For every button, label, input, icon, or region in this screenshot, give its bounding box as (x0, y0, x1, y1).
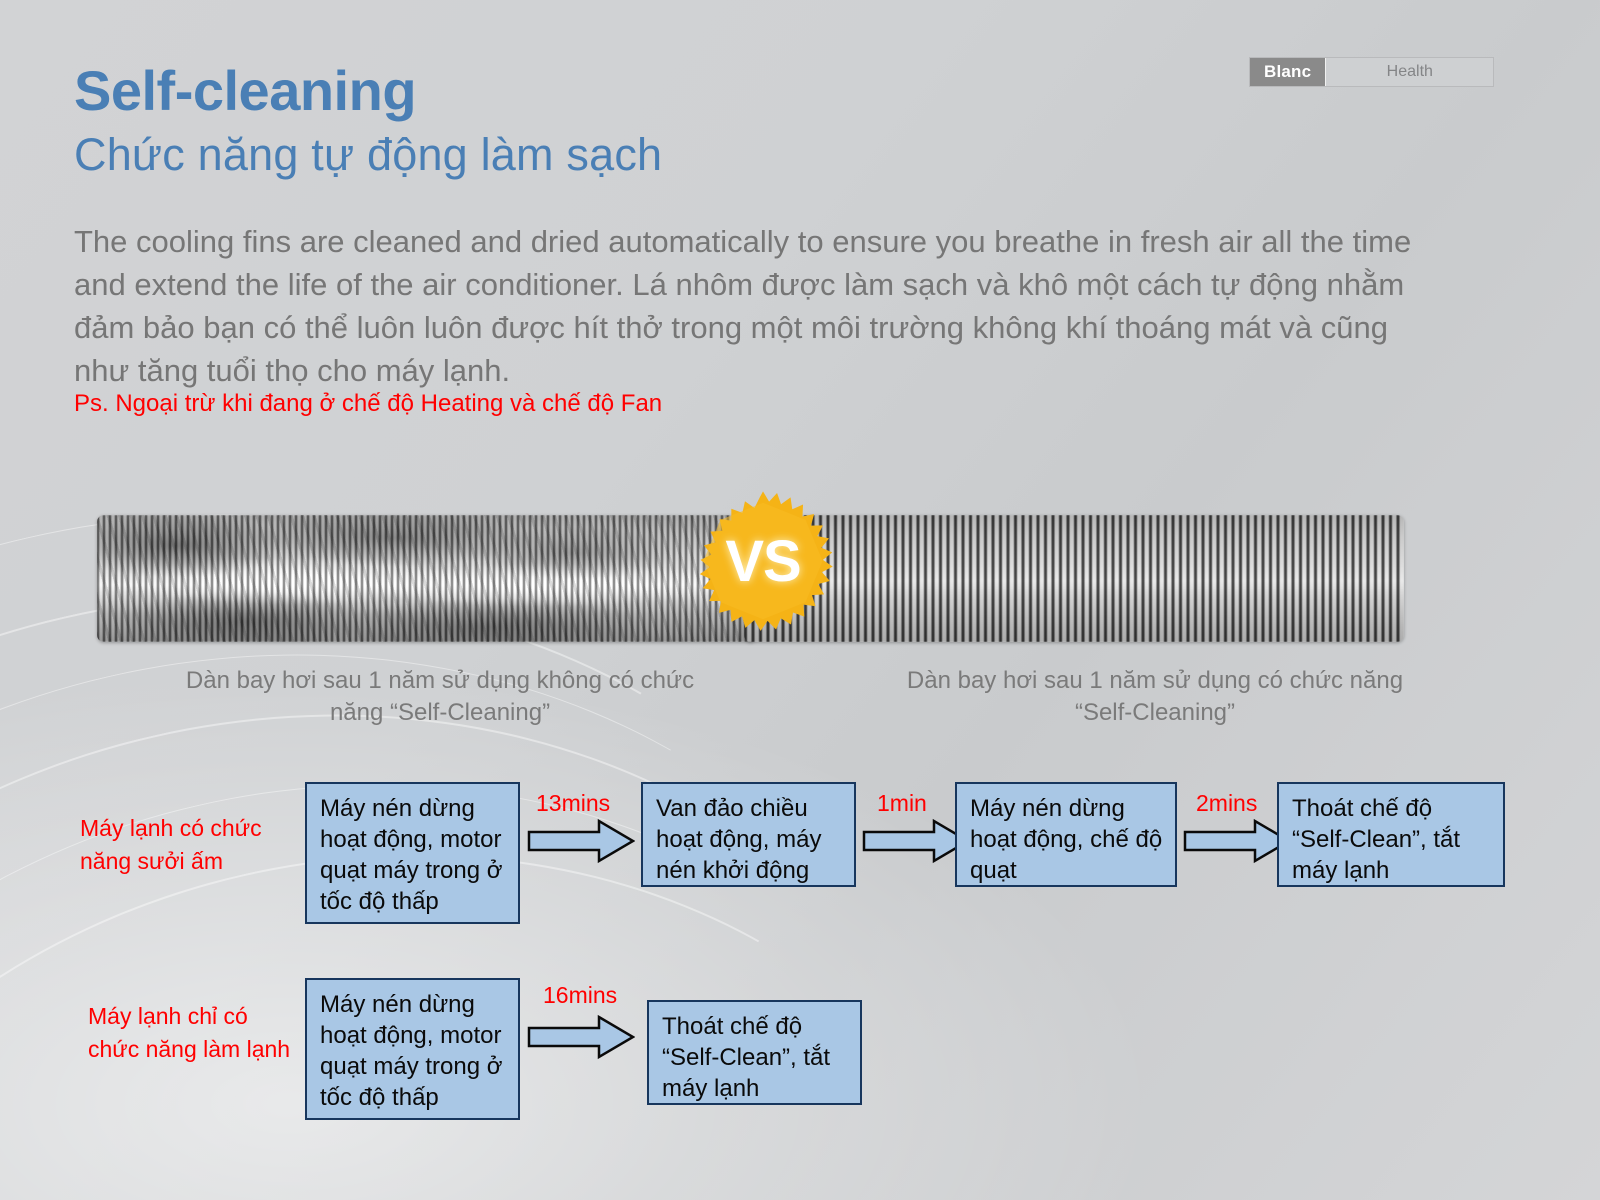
flow-duration-label: 2mins (1196, 790, 1257, 817)
grime-overlay (97, 515, 757, 642)
clean-fins-texture (744, 515, 1404, 642)
vs-label: VS (692, 490, 834, 632)
slide-canvas: Blanc Health Self-cleaning Chức năng tự … (0, 0, 1600, 1200)
flow-arrow-icon (527, 818, 635, 864)
caption-clean-coil: Dàn bay hơi sau 1 năm sử dụng có chức nă… (905, 665, 1405, 729)
background-swoosh (0, 650, 1135, 1200)
flow-step-box: Van đảo chiều hoạt động, máy nén khởi độ… (641, 782, 856, 887)
clean-coil-image (744, 515, 1404, 642)
flow-step-box: Thoát chế độ “Self-Clean”, tắt máy lạnh (1277, 782, 1505, 887)
dirty-coil-image (97, 515, 757, 642)
header-tab-group: Blanc Health (1249, 57, 1494, 87)
flow-duration-label: 16mins (543, 982, 617, 1009)
flow-duration-label: 13mins (536, 790, 610, 817)
tab-health[interactable]: Health (1325, 58, 1493, 86)
flow-duration-label: 1min (877, 790, 927, 817)
page-subtitle: Chức năng tự động làm sạch (74, 130, 662, 180)
flow-step-box: Máy nén dừng hoạt động, chế độ quạt (955, 782, 1177, 887)
flow-arrow-icon (862, 818, 970, 864)
flow-arrow-icon (1183, 818, 1291, 864)
flow-step-box: Thoát chế độ “Self-Clean”, tắt máy lạnh (647, 1000, 862, 1105)
flow-row1-label: Máy lạnh có chức năng sưởi ấm (80, 812, 295, 878)
page-title: Self-cleaning (74, 62, 416, 121)
vs-starburst-badge: VS (692, 490, 834, 632)
postscript-note: Ps. Ngoại trừ khi đang ở chế độ Heating … (74, 390, 662, 419)
flow-row2-label: Máy lạnh chỉ có chức năng làm lạnh (88, 1000, 293, 1066)
flow-arrow-icon (527, 1014, 635, 1060)
flow-step-box: Máy nén dừng hoạt động, motor quạt máy t… (305, 782, 520, 924)
tab-blanc[interactable]: Blanc (1250, 58, 1325, 86)
background-swoosh (0, 362, 1093, 1200)
flow-step-box: Máy nén dừng hoạt động, motor quạt máy t… (305, 978, 520, 1120)
caption-dirty-coil: Dàn bay hơi sau 1 năm sử dụng không có c… (175, 665, 705, 729)
body-paragraph: The cooling fins are cleaned and dried a… (74, 220, 1434, 392)
